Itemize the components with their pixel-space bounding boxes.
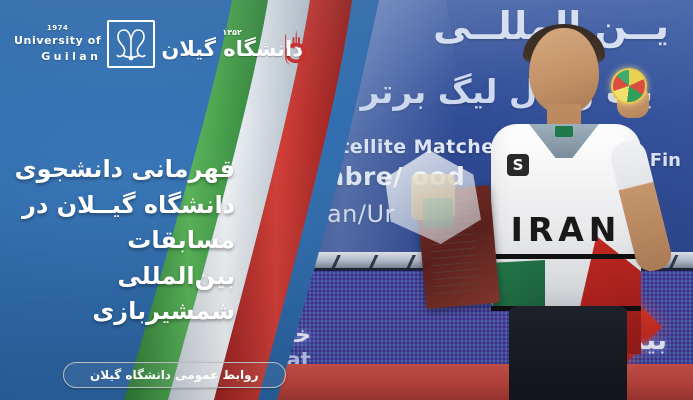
logo-year-persian: ۱۳۵۲ bbox=[161, 28, 303, 37]
jersey-brand-icon: S bbox=[507, 154, 529, 176]
public-relations-pill[interactable]: روابط عمومی دانشگاه گیلان bbox=[63, 362, 286, 388]
logo-english-line-2: Guilan bbox=[41, 50, 101, 63]
athlete-figure: IRAN S bbox=[471, 28, 661, 400]
logo-english-text: 1974 University of Guilan bbox=[14, 23, 101, 65]
jersey-green-stripe bbox=[493, 260, 545, 306]
jersey-country-text: IRAN bbox=[493, 210, 639, 249]
headline-text: قهرمانی دانشجوی دانشگاه گیــلان در مسابق… bbox=[11, 152, 235, 330]
university-logo[interactable]: 1974 University of Guilan ۱۳۵۲ دانشگاه گ… bbox=[14, 20, 303, 68]
news-banner: یــن المللــی یت وانال لیگ برتر Satellit… bbox=[0, 0, 693, 400]
jersey-band-top bbox=[491, 254, 641, 259]
logo-year-gregorian: 1974 bbox=[14, 23, 101, 33]
university-emblem-icon bbox=[107, 20, 155, 68]
medal-icon bbox=[611, 68, 647, 104]
logo-english-line-1: University of bbox=[14, 34, 101, 47]
logo-persian-text: ۱۳۵۲ دانشگاه گیلان bbox=[161, 28, 303, 61]
head bbox=[529, 28, 599, 114]
logo-persian-name: دانشگاه گیلان bbox=[161, 37, 303, 61]
legs bbox=[509, 306, 627, 400]
